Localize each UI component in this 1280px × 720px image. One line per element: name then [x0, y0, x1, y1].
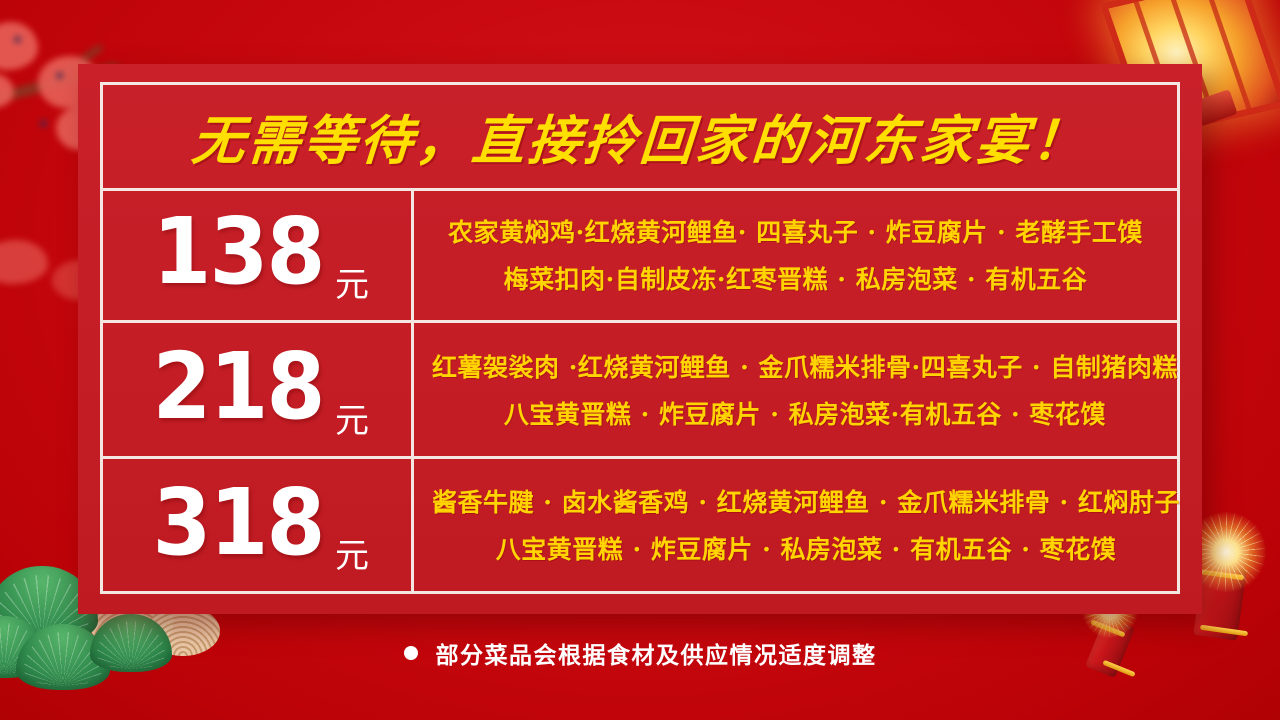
price-unit: 元: [335, 393, 369, 452]
footer-note: 部分菜品会根据食材及供应情况适度调整: [0, 636, 1280, 670]
menu-panel: 无需等待，直接拎回家的河东家宴！ 138 元 农家黄焖鸡·红烧黄河鲤鱼· 四喜丸…: [78, 64, 1202, 614]
table-row: 138 元 农家黄焖鸡·红烧黄河鲤鱼· 四喜丸子 · 炸豆腐片 · 老酵手工馍 …: [103, 188, 1177, 323]
menu-table: 138 元 农家黄焖鸡·红烧黄河鲤鱼· 四喜丸子 · 炸豆腐片 · 老酵手工馍 …: [103, 188, 1177, 591]
panel-frame-border: 无需等待，直接拎回家的河东家宴！ 138 元 农家黄焖鸡·红烧黄河鲤鱼· 四喜丸…: [100, 82, 1180, 594]
price-amount: 138: [152, 210, 323, 295]
price-amount: 218: [152, 345, 323, 430]
dish-line: 八宝黄晋糕 · 炸豆腐片 · 私房泡菜 · 有机五谷 · 枣花馍: [496, 530, 1116, 566]
dishes-cell: 农家黄焖鸡·红烧黄河鲤鱼· 四喜丸子 · 炸豆腐片 · 老酵手工馍 梅菜扣肉·自…: [414, 188, 1177, 320]
dish-line: 农家黄焖鸡·红烧黄河鲤鱼· 四喜丸子 · 炸豆腐片 · 老酵手工馍: [448, 213, 1143, 249]
price-cell: 318 元: [103, 459, 414, 591]
dish-line: 八宝黄晋糕 · 炸豆腐片 · 私房泡菜·有机五谷 · 枣花馍: [504, 395, 1106, 431]
bullet-dot-icon: [404, 646, 418, 660]
price-amount: 318: [152, 481, 323, 566]
dish-line: 酱香牛腱 · 卤水酱香鸡 · 红烧黄河鲤鱼 · 金爪糯米排骨 · 红焖肘子: [432, 483, 1180, 519]
price-unit: 元: [335, 528, 369, 587]
page-title: 无需等待，直接拎回家的河东家宴！: [189, 99, 1090, 175]
table-row: 318 元 酱香牛腱 · 卤水酱香鸡 · 红烧黄河鲤鱼 · 金爪糯米排骨 · 红…: [103, 459, 1177, 591]
price-unit: 元: [335, 257, 369, 316]
dish-line: 梅菜扣肉·自制皮冻·红枣晋糕 · 私房泡菜 · 有机五谷: [504, 260, 1088, 296]
dishes-cell: 红薯袈裟肉 ·红烧黄河鲤鱼 · 金爪糯米排骨·四喜丸子 · 自制猪肉糕 八宝黄晋…: [414, 323, 1196, 455]
new-year-menu-poster: 无需等待，直接拎回家的河东家宴！ 138 元 农家黄焖鸡·红烧黄河鲤鱼· 四喜丸…: [0, 0, 1280, 720]
price-cell: 218 元: [103, 323, 414, 455]
table-row: 218 元 红薯袈裟肉 ·红烧黄河鲤鱼 · 金爪糯米排骨·四喜丸子 · 自制猪肉…: [103, 323, 1177, 458]
dish-line: 红薯袈裟肉 ·红烧黄河鲤鱼 · 金爪糯米排骨·四喜丸子 · 自制猪肉糕: [432, 348, 1178, 384]
price-cell: 138 元: [103, 188, 414, 320]
dishes-cell: 酱香牛腱 · 卤水酱香鸡 · 红烧黄河鲤鱼 · 金爪糯米排骨 · 红焖肘子 八宝…: [414, 459, 1198, 591]
title-row: 无需等待，直接拎回家的河东家宴！: [103, 85, 1177, 191]
footer-note-text: 部分菜品会根据食材及供应情况适度调整: [436, 636, 877, 670]
